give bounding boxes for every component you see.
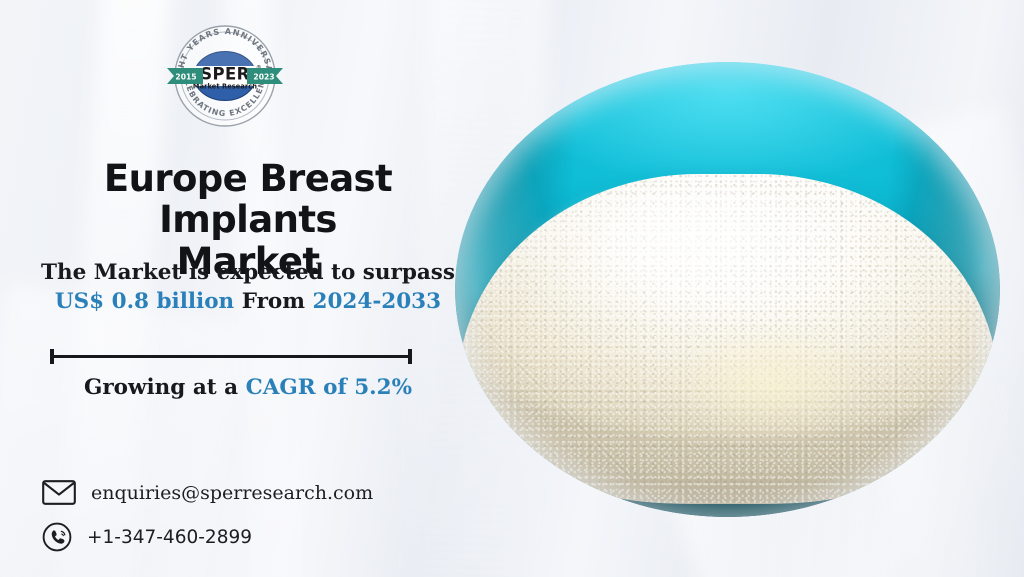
forecast-period: 2024-2033	[313, 289, 442, 314]
divider-cap-right	[408, 349, 412, 364]
forecast-connector: From	[242, 289, 305, 314]
envelope-icon	[42, 480, 76, 505]
cagr-value: CAGR of 5.2%	[246, 375, 412, 400]
contact-email[interactable]: enquiries@sperresearch.com	[42, 480, 373, 505]
phone-circle-icon	[42, 522, 72, 552]
logo-wordmark: SPER	[200, 65, 250, 84]
divider-bar	[50, 355, 412, 358]
forecast-lead: The Market is expected to surpass	[41, 260, 455, 285]
contact-phone[interactable]: +1-347-460-2899	[42, 522, 252, 552]
cagr-statement: Growing at a CAGR of 5.2%	[24, 375, 472, 400]
cagr-lead: Growing at a	[84, 375, 238, 400]
market-forecast-statement: The Market is expected to surpass US$ 0.…	[24, 258, 472, 316]
logo-ribbon-left: 2015	[167, 68, 203, 84]
divider	[50, 349, 412, 363]
forecast-value: US$ 0.8 billion	[55, 289, 234, 314]
product-edge-blend	[455, 62, 1000, 517]
logo-ribbon-right-year: 2023	[253, 73, 274, 82]
market-report-banner: EIGHT YEARS ANNIVERSARY CELEBRATING EXCE…	[0, 0, 1024, 577]
logo-ribbon-right: 2023	[247, 68, 283, 84]
contact-email-text: enquiries@sperresearch.com	[91, 482, 373, 504]
title-line-1: Europe Breast Implants	[104, 157, 392, 241]
contact-phone-text: +1-347-460-2899	[87, 527, 252, 548]
logo-ribbon-left-year: 2015	[175, 73, 196, 82]
sper-logo[interactable]: EIGHT YEARS ANNIVERSARY CELEBRATING EXCE…	[163, 14, 287, 138]
product-image	[455, 62, 1000, 517]
